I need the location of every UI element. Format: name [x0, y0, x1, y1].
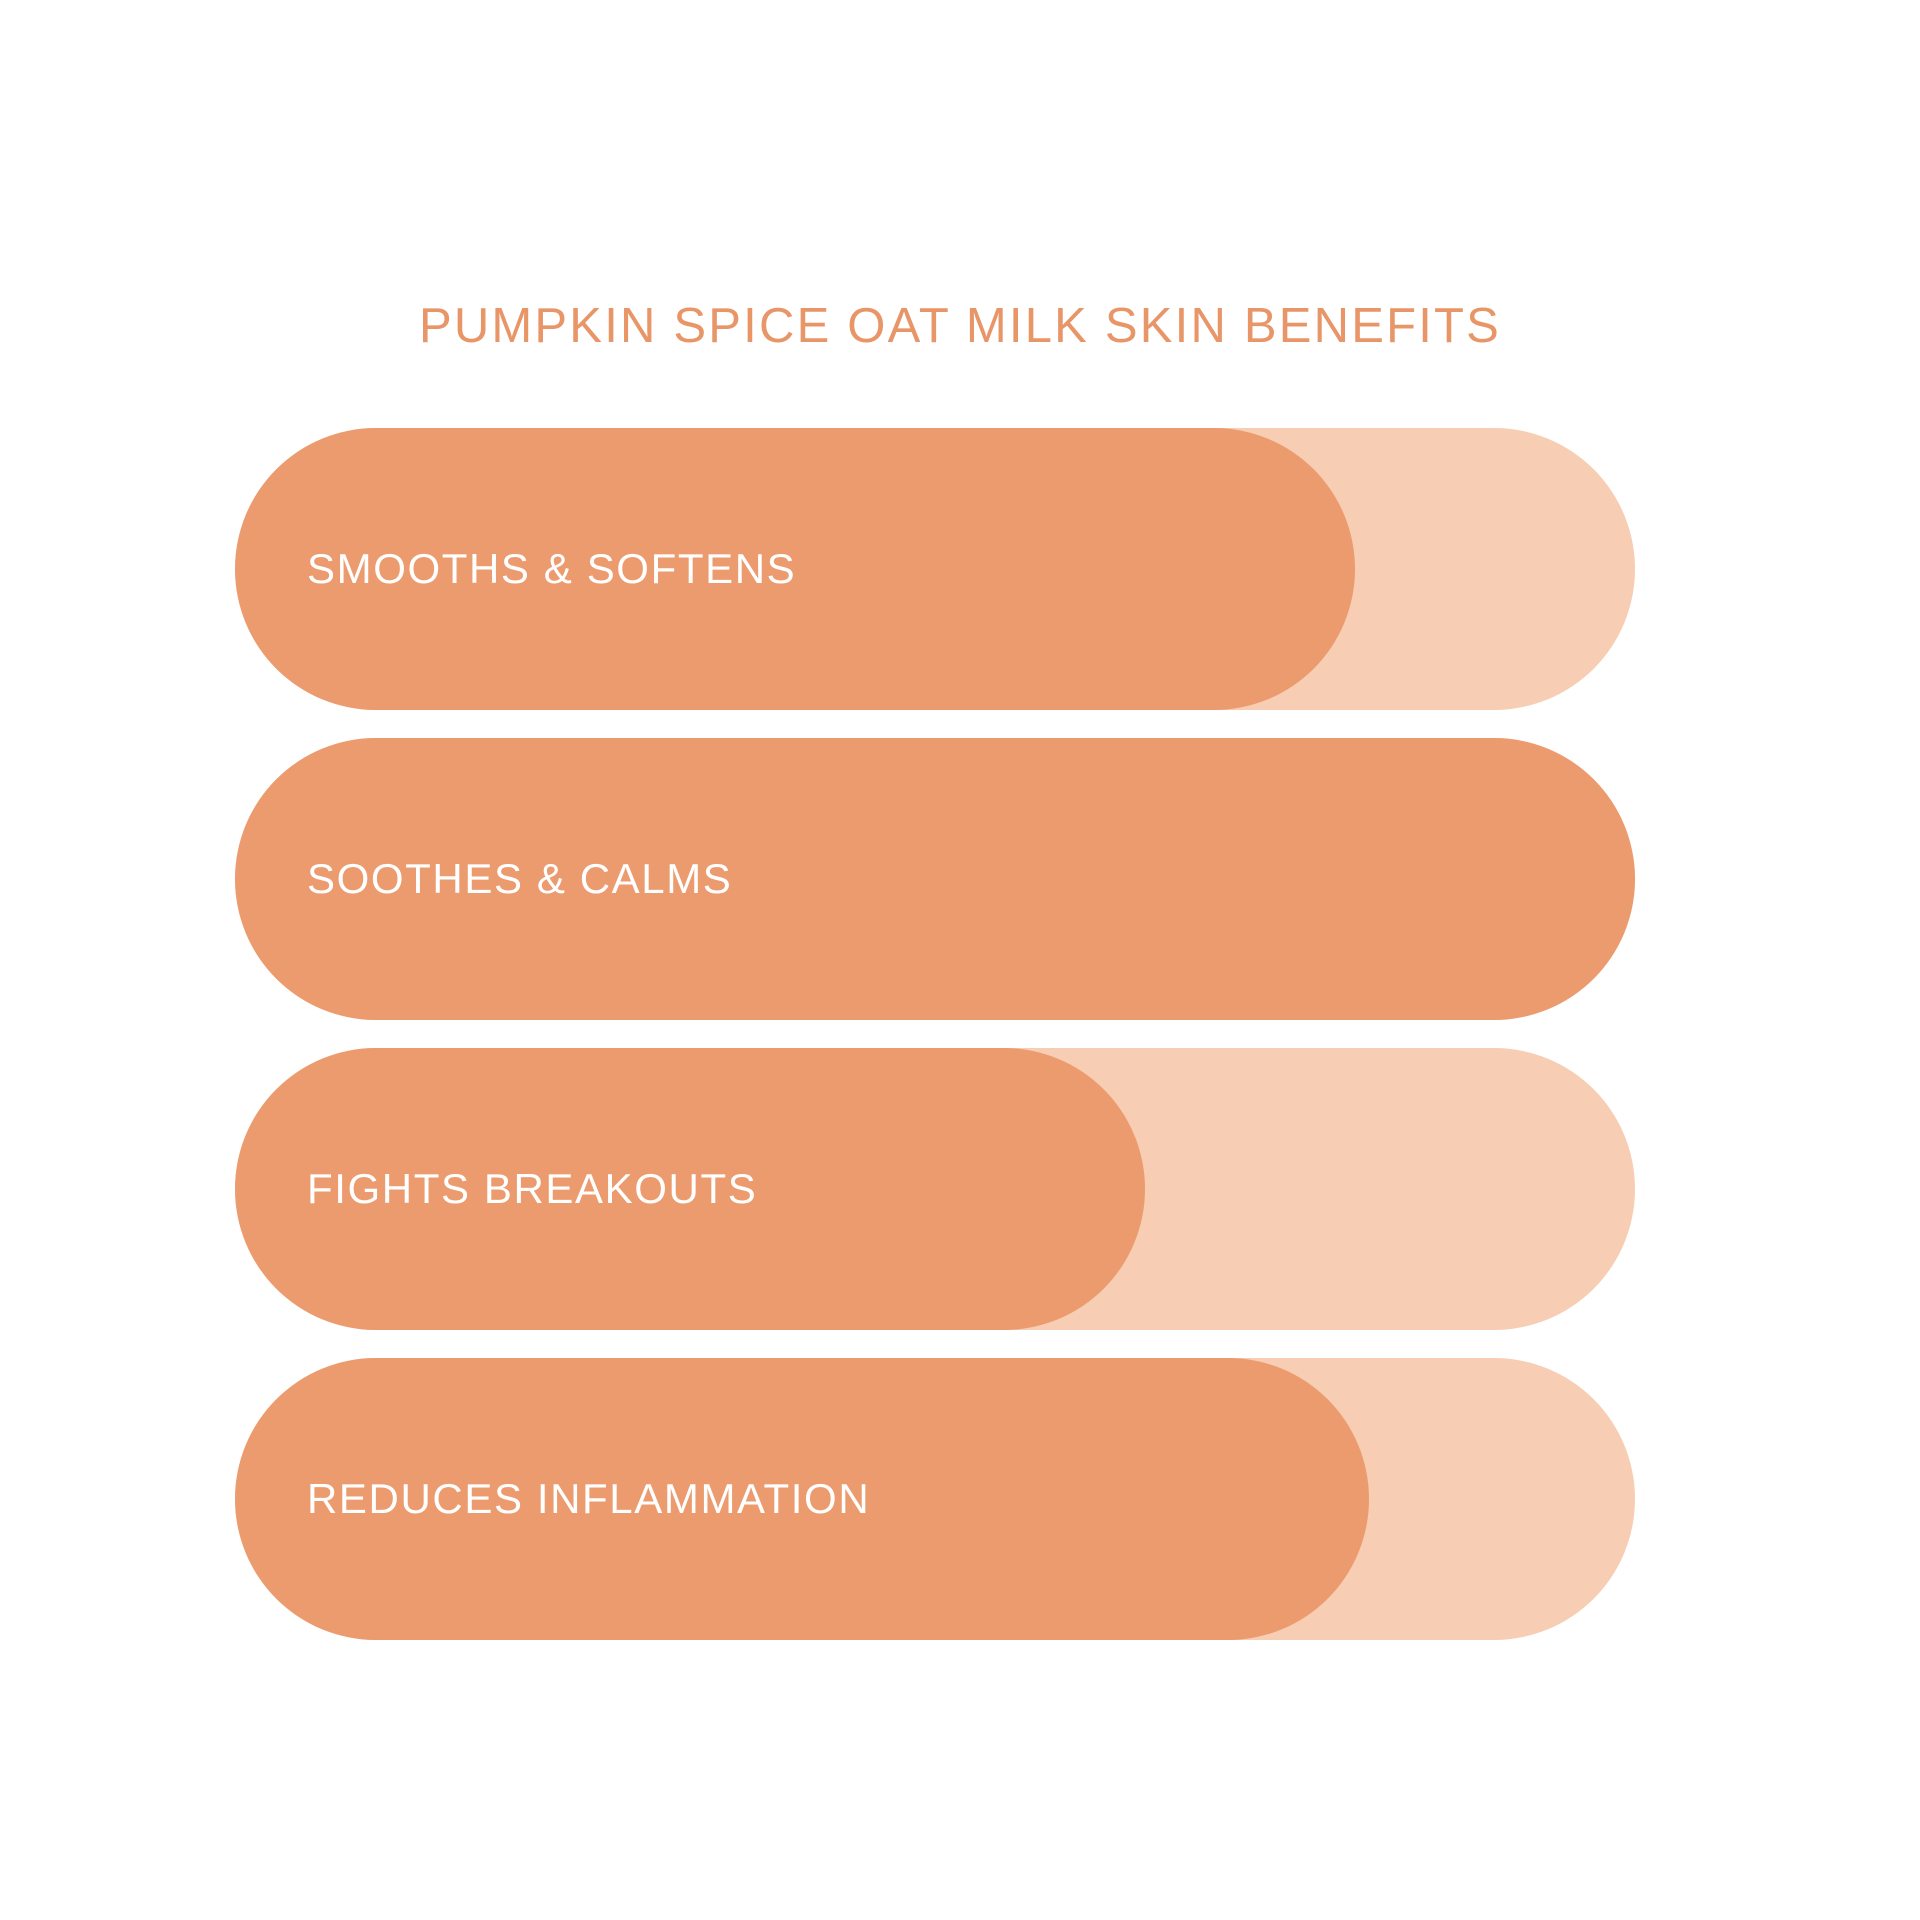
benefit-bar-row[interactable]: SOOTHES & CALMS: [235, 738, 1635, 1020]
benefit-bar-row[interactable]: SMOOTHS & SOFTENS: [235, 428, 1635, 710]
benefit-bar-list: SMOOTHS & SOFTENS SOOTHES & CALMS FIGHTS…: [235, 428, 1635, 1620]
bar-fill: [235, 428, 1355, 710]
benefit-bar-row[interactable]: REDUCES INFLAMMATION: [235, 1358, 1635, 1640]
bar-fill: [235, 1358, 1369, 1640]
bar-fill: [235, 738, 1635, 1020]
page-title: PUMPKIN SPICE OAT MILK SKIN BENEFITS: [0, 296, 1920, 356]
infographic-canvas: PUMPKIN SPICE OAT MILK SKIN BENEFITS SMO…: [0, 0, 1920, 1920]
benefit-bar-row[interactable]: FIGHTS BREAKOUTS: [235, 1048, 1635, 1330]
bar-fill: [235, 1048, 1145, 1330]
